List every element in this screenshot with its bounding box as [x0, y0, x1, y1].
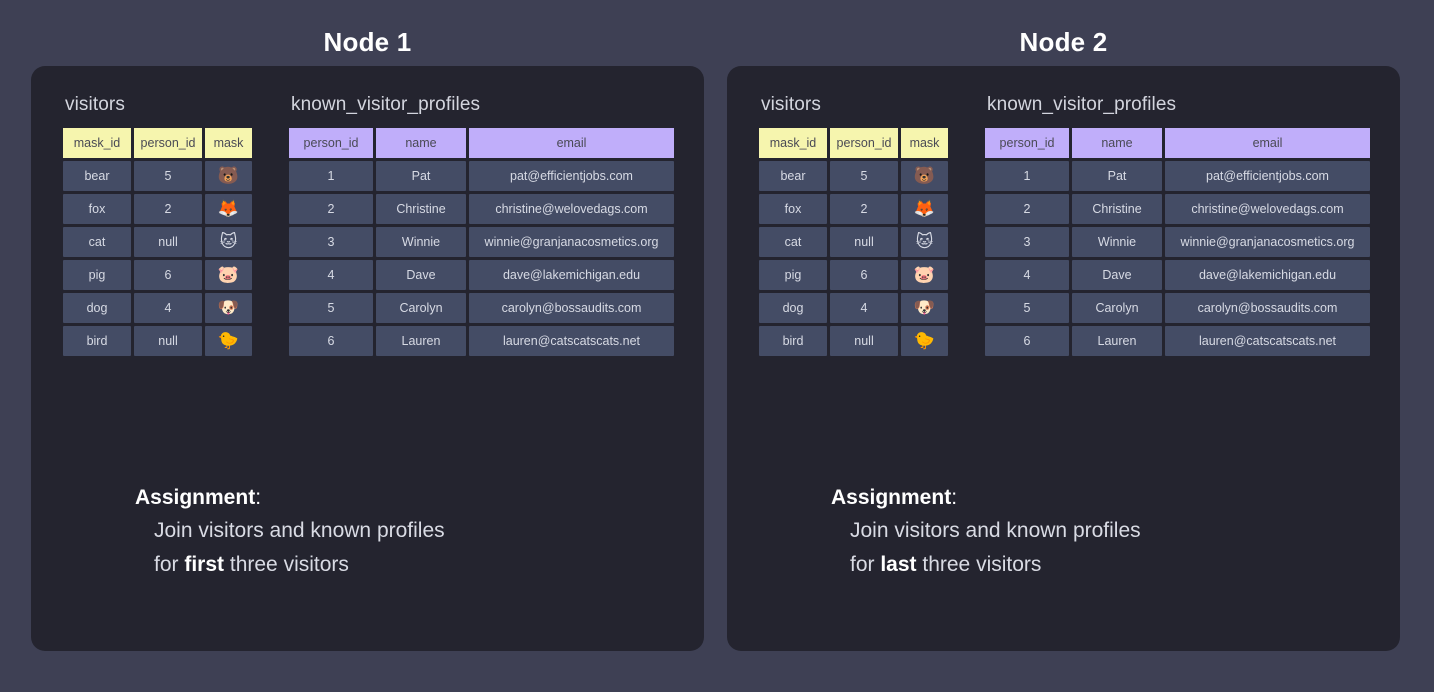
cell-mask-emoji: 🦊 — [205, 194, 252, 224]
assignment-line-2: for first three visitors — [154, 548, 445, 582]
table-row: 6 Lauren lauren@catscatscats.net — [289, 326, 674, 356]
cell-mask-id: bear — [63, 161, 131, 191]
node-panel-1: Node 1 visitors mask_id person_id mask — [31, 0, 704, 692]
node-card-2: visitors mask_id person_id mask bear — [727, 66, 1400, 651]
cell-name: Dave — [1072, 260, 1162, 290]
cell-person-id: 4 — [289, 260, 373, 290]
assignment-heading-label: Assignment — [831, 486, 951, 509]
cell-person-id: 6 — [289, 326, 373, 356]
table-header-row: mask_id person_id mask — [63, 128, 252, 158]
cell-email: dave@lakemichigan.edu — [469, 260, 674, 290]
cell-mask-id: pig — [63, 260, 131, 290]
profiles-table-caption-1: known_visitor_profiles — [291, 94, 677, 116]
cell-mask-emoji: 🐷 — [901, 260, 948, 290]
table-row: 3 Winnie winnie@granjanacosmetics.org — [985, 227, 1370, 257]
table-row: 4 Dave dave@lakemichigan.edu — [289, 260, 674, 290]
assignment-heading-colon: : — [951, 486, 957, 509]
cell-person-id: 3 — [985, 227, 1069, 257]
profiles-table-block-2: known_visitor_profiles person_id name em… — [985, 94, 1373, 359]
cell-name: Christine — [376, 194, 466, 224]
cell-mask-emoji: 🐱 — [205, 227, 252, 257]
column-header-person-id: person_id — [830, 128, 898, 158]
table-row: pig 6 🐷 — [63, 260, 252, 290]
table-row: 5 Carolyn carolyn@bossaudits.com — [985, 293, 1370, 323]
assignment-heading-label: Assignment — [135, 486, 255, 509]
assignment-block-1: Assignment: Join visitors and known prof… — [135, 486, 445, 581]
cell-person-id: 2 — [134, 194, 202, 224]
table-row: 6 Lauren lauren@catscatscats.net — [985, 326, 1370, 356]
table-row: 4 Dave dave@lakemichigan.edu — [985, 260, 1370, 290]
assignment-line2-emphasis: last — [880, 553, 916, 576]
visitors-table-1: mask_id person_id mask bear 5 🐻 — [60, 125, 255, 359]
assignment-line-1: Join visitors and known profiles — [850, 514, 1141, 548]
assignment-line2-emphasis: first — [184, 553, 224, 576]
column-header-person-id: person_id — [985, 128, 1069, 158]
column-header-name: name — [376, 128, 466, 158]
cell-person-id: 5 — [830, 161, 898, 191]
cell-person-id: 1 — [985, 161, 1069, 191]
table-row: bird null 🐤 — [759, 326, 948, 356]
column-header-person-id: person_id — [134, 128, 202, 158]
column-header-email: email — [1165, 128, 1370, 158]
cell-email: dave@lakemichigan.edu — [1165, 260, 1370, 290]
profiles-table-1: person_id name email 1 Pat pat@efficient… — [286, 125, 677, 359]
cell-name: Christine — [1072, 194, 1162, 224]
assignment-heading-2: Assignment: — [831, 486, 1141, 510]
node-title-1: Node 1 — [31, 25, 704, 60]
cell-mask-id: cat — [63, 227, 131, 257]
visitors-table-block-1: visitors mask_id person_id mask bear — [63, 94, 255, 359]
cell-email: lauren@catscatscats.net — [469, 326, 674, 356]
table-row: 2 Christine christine@welovedags.com — [289, 194, 674, 224]
table-row: 3 Winnie winnie@granjanacosmetics.org — [289, 227, 674, 257]
cell-person-id: 4 — [830, 293, 898, 323]
cell-name: Pat — [1072, 161, 1162, 191]
cell-person-id: 1 — [289, 161, 373, 191]
table-header-row: person_id name email — [289, 128, 674, 158]
cell-mask-emoji: 🐤 — [901, 326, 948, 356]
table-row: bird null 🐤 — [63, 326, 252, 356]
node-title-2: Node 2 — [727, 25, 1400, 60]
cell-mask-emoji: 🐤 — [205, 326, 252, 356]
cell-mask-id: pig — [759, 260, 827, 290]
cell-person-id: null — [134, 326, 202, 356]
tables-row-1: visitors mask_id person_id mask bear — [31, 94, 704, 359]
table-row: bear 5 🐻 — [759, 161, 948, 191]
cell-name: Lauren — [1072, 326, 1162, 356]
cell-person-id: null — [134, 227, 202, 257]
cell-mask-id: bird — [759, 326, 827, 356]
cell-email: christine@welovedags.com — [469, 194, 674, 224]
cell-person-id: null — [830, 227, 898, 257]
cell-email: pat@efficientjobs.com — [1165, 161, 1370, 191]
table-row: 1 Pat pat@efficientjobs.com — [289, 161, 674, 191]
cell-mask-id: fox — [63, 194, 131, 224]
cell-email: carolyn@bossaudits.com — [469, 293, 674, 323]
cell-person-id: 5 — [985, 293, 1069, 323]
visitors-table-2: mask_id person_id mask bear 5 🐻 — [756, 125, 951, 359]
cell-person-id: 5 — [134, 161, 202, 191]
cell-mask-emoji: 🦊 — [901, 194, 948, 224]
profiles-table-2: person_id name email 1 Pat pat@efficient… — [982, 125, 1373, 359]
table-row: bear 5 🐻 — [63, 161, 252, 191]
cell-person-id: 4 — [985, 260, 1069, 290]
cell-person-id: 5 — [289, 293, 373, 323]
cell-name: Winnie — [1072, 227, 1162, 257]
cell-mask-id: dog — [759, 293, 827, 323]
column-header-person-id: person_id — [289, 128, 373, 158]
table-row: dog 4 🐶 — [63, 293, 252, 323]
table-row: fox 2 🦊 — [63, 194, 252, 224]
cell-mask-id: fox — [759, 194, 827, 224]
assignment-block-2: Assignment: Join visitors and known prof… — [831, 486, 1141, 581]
assignment-line2-prefix: for — [850, 553, 880, 576]
cell-email: lauren@catscatscats.net — [1165, 326, 1370, 356]
table-header-row: mask_id person_id mask — [759, 128, 948, 158]
cell-mask-emoji: 🐷 — [205, 260, 252, 290]
column-header-mask-id: mask_id — [759, 128, 827, 158]
cell-mask-emoji: 🐱 — [901, 227, 948, 257]
cell-person-id: 6 — [134, 260, 202, 290]
cell-name: Winnie — [376, 227, 466, 257]
cell-mask-emoji: 🐻 — [901, 161, 948, 191]
table-row: dog 4 🐶 — [759, 293, 948, 323]
assignment-line2-suffix: three visitors — [917, 553, 1042, 576]
cell-email: christine@welovedags.com — [1165, 194, 1370, 224]
visitors-table-caption-2: visitors — [761, 94, 951, 116]
visitors-table-block-2: visitors mask_id person_id mask bear — [759, 94, 951, 359]
assignment-heading-colon: : — [255, 486, 261, 509]
table-row: 1 Pat pat@efficientjobs.com — [985, 161, 1370, 191]
cell-mask-id: dog — [63, 293, 131, 323]
table-row: fox 2 🦊 — [759, 194, 948, 224]
assignment-line2-suffix: three visitors — [224, 553, 349, 576]
table-header-row: person_id name email — [985, 128, 1370, 158]
assignment-heading-1: Assignment: — [135, 486, 445, 510]
table-row: 2 Christine christine@welovedags.com — [985, 194, 1370, 224]
cell-email: winnie@granjanacosmetics.org — [469, 227, 674, 257]
cell-mask-id: bird — [63, 326, 131, 356]
cell-mask-emoji: 🐻 — [205, 161, 252, 191]
table-row: pig 6 🐷 — [759, 260, 948, 290]
column-header-mask: mask — [205, 128, 252, 158]
table-row: cat null 🐱 — [759, 227, 948, 257]
assignment-line-2: for last three visitors — [850, 548, 1141, 582]
assignment-line-1: Join visitors and known profiles — [154, 514, 445, 548]
node-panel-2: Node 2 visitors mask_id person_id mask — [727, 0, 1400, 692]
assignment-body-2: Join visitors and known profiles for las… — [831, 514, 1141, 581]
cell-person-id: 2 — [830, 194, 898, 224]
assignment-line2-prefix: for — [154, 553, 184, 576]
cell-email: carolyn@bossaudits.com — [1165, 293, 1370, 323]
cell-name: Lauren — [376, 326, 466, 356]
assignment-body-1: Join visitors and known profiles for fir… — [135, 514, 445, 581]
cell-name: Dave — [376, 260, 466, 290]
cell-person-id: 6 — [830, 260, 898, 290]
column-header-email: email — [469, 128, 674, 158]
cell-mask-emoji: 🐶 — [901, 293, 948, 323]
column-header-mask: mask — [901, 128, 948, 158]
cell-person-id: 4 — [134, 293, 202, 323]
cell-person-id: null — [830, 326, 898, 356]
cell-person-id: 3 — [289, 227, 373, 257]
column-header-mask-id: mask_id — [63, 128, 131, 158]
cell-mask-id: cat — [759, 227, 827, 257]
cell-person-id: 2 — [289, 194, 373, 224]
nodes-board: Node 1 visitors mask_id person_id mask — [0, 0, 1434, 692]
cell-person-id: 2 — [985, 194, 1069, 224]
cell-name: Carolyn — [1072, 293, 1162, 323]
cell-name: Pat — [376, 161, 466, 191]
tables-row-2: visitors mask_id person_id mask bear — [727, 94, 1400, 359]
visitors-table-caption-1: visitors — [65, 94, 255, 116]
table-row: 5 Carolyn carolyn@bossaudits.com — [289, 293, 674, 323]
table-row: cat null 🐱 — [63, 227, 252, 257]
node-card-1: visitors mask_id person_id mask bear — [31, 66, 704, 651]
cell-mask-emoji: 🐶 — [205, 293, 252, 323]
cell-person-id: 6 — [985, 326, 1069, 356]
profiles-table-caption-2: known_visitor_profiles — [987, 94, 1373, 116]
cell-email: pat@efficientjobs.com — [469, 161, 674, 191]
cell-mask-id: bear — [759, 161, 827, 191]
column-header-name: name — [1072, 128, 1162, 158]
cell-email: winnie@granjanacosmetics.org — [1165, 227, 1370, 257]
cell-name: Carolyn — [376, 293, 466, 323]
profiles-table-block-1: known_visitor_profiles person_id name em… — [289, 94, 677, 359]
